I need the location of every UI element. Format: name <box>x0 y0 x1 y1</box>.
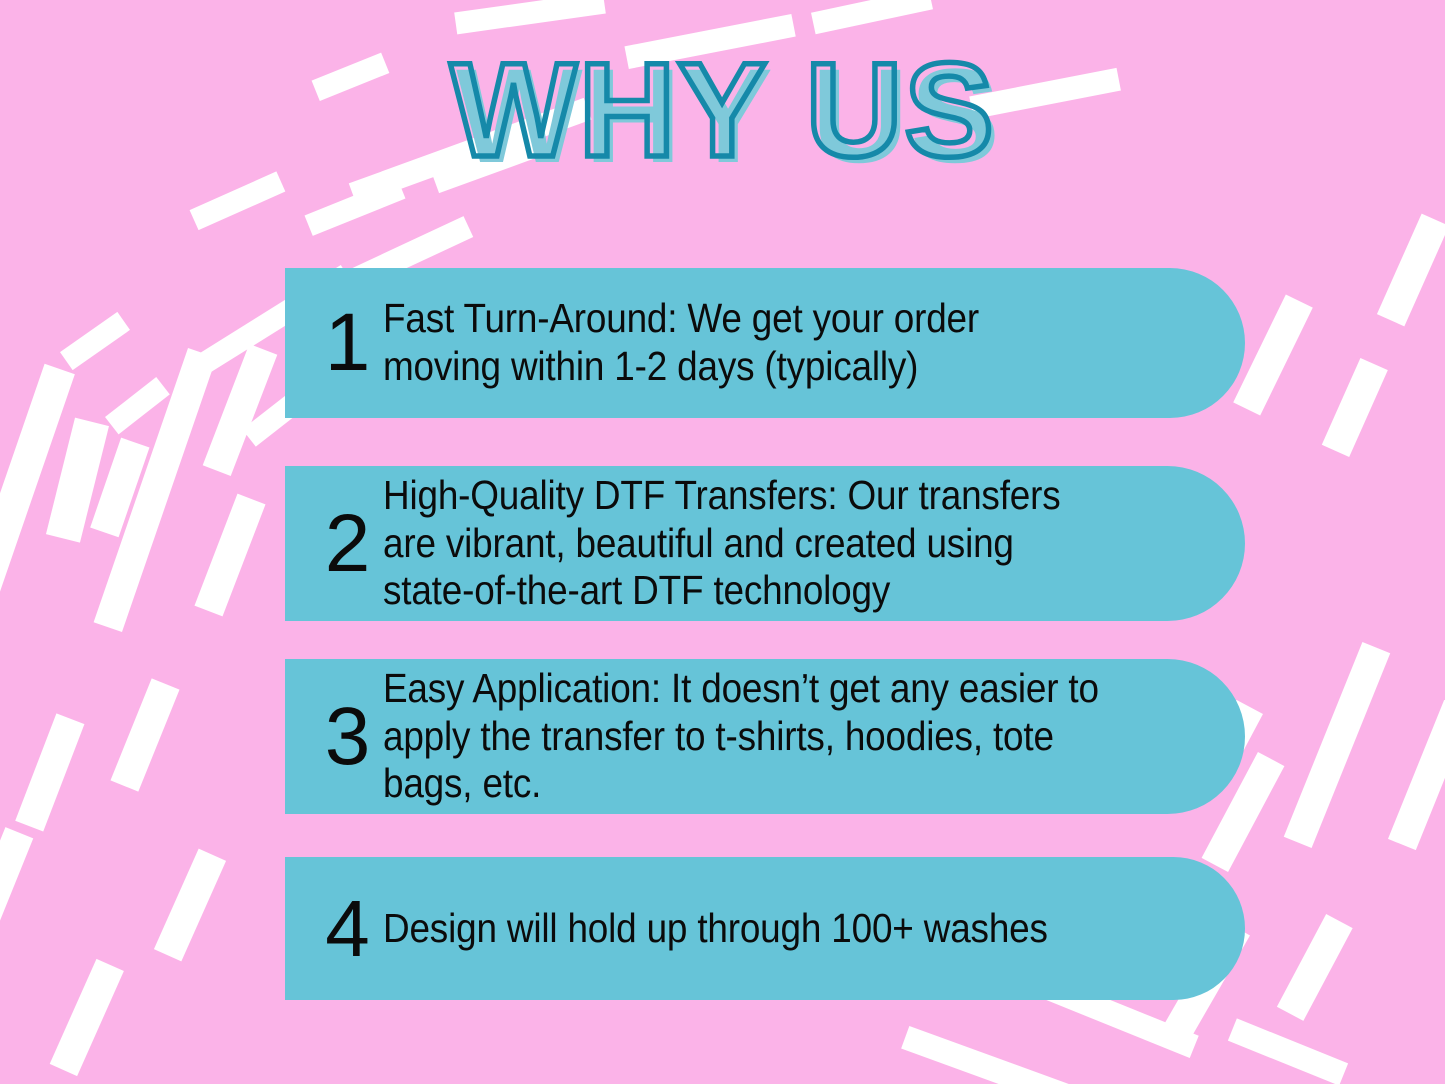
page-title: WHY US WHY US <box>0 44 1445 194</box>
dash <box>105 377 170 434</box>
dash <box>1284 642 1390 848</box>
benefit-text: Easy Application: It doesn’t get any eas… <box>383 665 1159 809</box>
dash <box>110 678 179 791</box>
benefit-card-2: 2 High-Quality DTF Transfers: Our transf… <box>285 466 1245 621</box>
dash <box>1377 214 1445 327</box>
dash <box>0 827 33 959</box>
dash <box>0 364 75 686</box>
benefit-number: 3 <box>311 696 383 778</box>
title-why-us-graphic: WHY US WHY US <box>423 44 1023 194</box>
dash <box>94 348 217 632</box>
dash <box>901 1026 1074 1084</box>
benefit-text: High-Quality DTF Transfers: Our transfer… <box>383 472 1159 616</box>
dash <box>90 438 149 538</box>
dash <box>60 312 130 370</box>
dash <box>194 494 265 617</box>
benefit-text: Fast Turn-Around: We get your order movi… <box>383 295 1159 391</box>
benefit-card-1: 1 Fast Turn-Around: We get your order mo… <box>285 268 1245 418</box>
dash <box>454 0 606 34</box>
benefit-number: 2 <box>311 503 383 585</box>
dash <box>46 418 109 543</box>
title-outline-text: WHY US <box>450 36 996 185</box>
why-us-poster: WHY US WHY US 1 Fast Turn-Around: We get… <box>0 0 1445 1084</box>
dash <box>811 0 933 34</box>
benefit-card-3: 3 Easy Application: It doesn’t get any e… <box>285 659 1245 814</box>
dash <box>1228 1018 1348 1084</box>
benefit-text: Design will hold up through 100+ washes <box>383 905 1159 953</box>
dash <box>15 713 84 831</box>
benefits-list: 1 Fast Turn-Around: We get your order mo… <box>285 268 1245 1000</box>
benefit-card-4: 4 Design will hold up through 100+ washe… <box>285 857 1245 1000</box>
dash <box>50 959 124 1076</box>
dash <box>203 344 278 476</box>
benefit-number: 1 <box>311 302 383 384</box>
dash <box>1322 358 1388 457</box>
dash <box>1277 914 1353 1021</box>
dash <box>1388 700 1445 850</box>
benefit-number: 4 <box>311 889 383 969</box>
dash <box>154 849 226 962</box>
dash <box>1233 294 1313 415</box>
